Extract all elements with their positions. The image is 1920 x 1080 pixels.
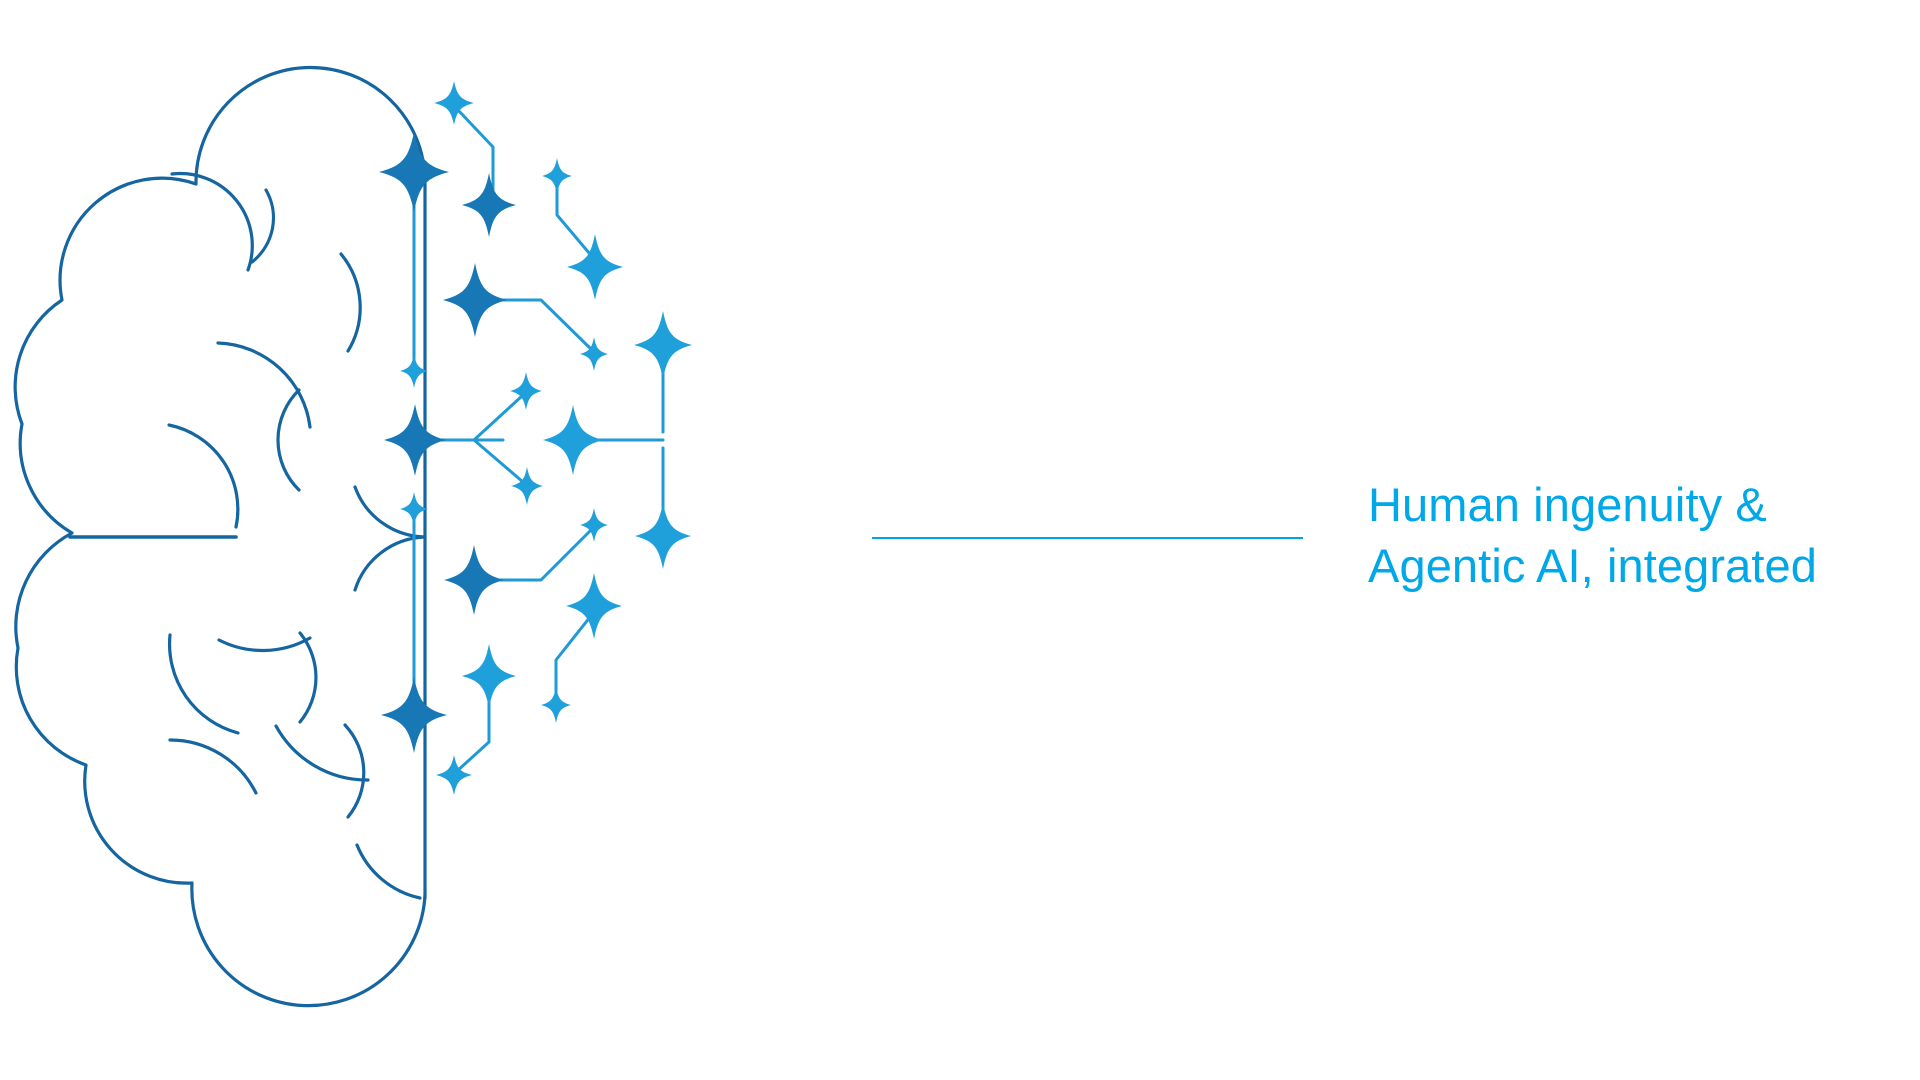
brain-fold-upper-right [252,190,273,262]
trace-bottom-diagonal [556,612,594,702]
tagline-line-1: Human ingenuity & [1368,474,1888,535]
star-center-left-big-icon [384,404,446,476]
trace-fork-up [474,396,522,440]
network-traces-group [414,110,663,772]
brain-fold-lower-left [170,635,238,733]
brain-fold-bottom-tail [357,845,420,898]
star-bottom-tiny-icon [541,687,571,723]
trace-fork-down [474,440,523,482]
brain-fold-bottom-left [170,740,256,793]
star-upper-large-left-icon [379,132,449,212]
star-upper-mid-icon [462,173,516,237]
trace-upper-right-stem [557,184,595,260]
star-mid-left-large-icon [443,263,507,337]
trace-mid-elbow [479,300,594,352]
star-bottom-left-big-icon [381,677,447,753]
star-bottom-mid-icon [462,644,516,708]
brain-fold-upper-right-2 [341,254,360,351]
slide-canvas: Human ingenuity & Agentic AI, integrated [0,0,1920,1080]
star-right-upper-big-icon [634,311,692,379]
brain-fold-lower-right [300,633,316,722]
tagline: Human ingenuity & Agentic AI, integrated [1368,474,1888,596]
brain-fold-lower-mid [219,638,310,650]
brain-fold-center [169,425,238,527]
star-branch-down-small-icon [511,467,543,505]
brain-fold-upper-left [172,174,252,270]
star-right-lower-big-icon [635,503,691,569]
star-center-right-big-icon [543,405,603,475]
brain-fold-bottom-right [345,725,364,817]
star-upper-right-mid-icon [567,234,623,300]
star-upper-right-small-icon [542,158,572,194]
brain-outline-group [15,67,425,1005]
tagline-line-2: Agentic AI, integrated [1368,535,1888,596]
brain-fold-bottom-mid [276,726,368,780]
star-lower-left-mid-icon [444,545,504,615]
trace-lower-elbow [478,527,594,580]
brain-fold-mid-left [218,343,310,427]
trace-bottom-left-elbow [456,682,489,772]
brain-fold-center-right [278,390,299,490]
star-lower-right-mid-icon [566,573,622,639]
